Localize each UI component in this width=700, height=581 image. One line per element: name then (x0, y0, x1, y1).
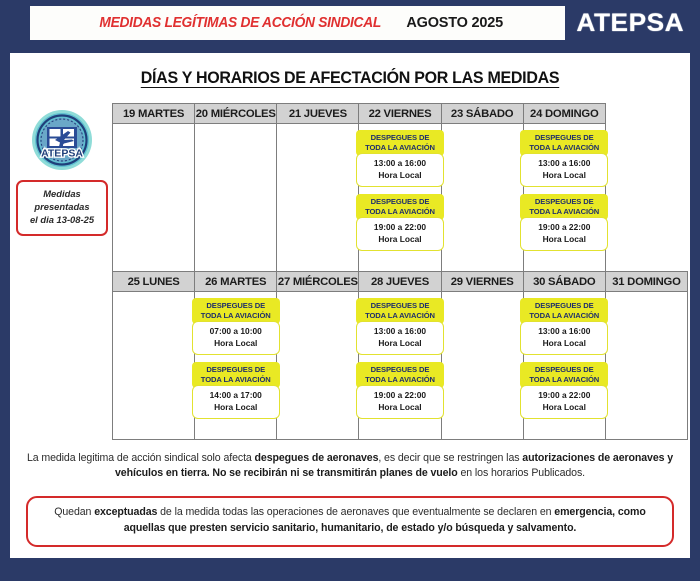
day-header: 23 SÁBADO (441, 104, 523, 124)
calendar-grid: 19 MARTES20 MIÉRCOLES21 JUEVES22 VIERNES… (112, 103, 688, 440)
measure-slot: DESPEGUES DETODA LA AVIACIÓN13:00 a 16:0… (520, 298, 608, 355)
measure-slot-time-range: 19:00 a 22:00 (523, 390, 605, 402)
day-cell-content (113, 124, 194, 134)
day-cell (195, 124, 277, 272)
measure-slot-title-line1: DESPEGUES DE (358, 365, 442, 375)
day-cell-content: DESPEGUES DETODA LA AVIACIÓN07:00 a 10:0… (195, 292, 276, 423)
day-cell (277, 292, 359, 440)
measure-slot-title-line2: TODA LA AVIACIÓN (194, 311, 278, 321)
measure-slot-timezone: Hora Local (523, 338, 605, 350)
measure-slot-title-line2: TODA LA AVIACIÓN (358, 311, 442, 321)
measure-slot: DESPEGUES DETODA LA AVIACIÓN07:00 a 10:0… (192, 298, 280, 355)
measure-slot-timezone: Hora Local (359, 402, 441, 414)
plain-text: , es decir que se restringen las (378, 452, 522, 464)
measure-slot-timezone: Hora Local (359, 170, 441, 182)
day-header: 20 MIÉRCOLES (195, 104, 277, 124)
day-cell-content: DESPEGUES DETODA LA AVIACIÓN13:00 a 16:0… (524, 292, 605, 423)
measure-slot: DESPEGUES DETODA LA AVIACIÓN19:00 a 22:0… (520, 362, 608, 419)
day-cell: DESPEGUES DETODA LA AVIACIÓN13:00 a 16:0… (523, 124, 605, 272)
header-title-plate: MEDIDAS LEGÍTIMAS DE ACCIÓN SINDICAL AGO… (30, 6, 565, 40)
measure-slot-timezone: Hora Local (523, 234, 605, 246)
day-cell (441, 124, 523, 272)
day-cell (605, 292, 687, 440)
header-month: AGOSTO 2025 (406, 15, 503, 31)
poster-root: MEDIDAS LEGÍTIMAS DE ACCIÓN SINDICAL AGO… (0, 0, 700, 581)
calendar-day-row: DESPEGUES DETODA LA AVIACIÓN13:00 a 16:0… (113, 124, 688, 272)
page-title: DÍAS Y HORARIOS DE AFECTACIÓN POR LAS ME… (20, 53, 680, 88)
measure-slot-time-range: 13:00 a 16:00 (523, 158, 605, 170)
day-cell: DESPEGUES DETODA LA AVIACIÓN13:00 a 16:0… (523, 292, 605, 440)
day-header: 22 VIERNES (359, 104, 441, 124)
plain-text: Quedan (54, 506, 94, 518)
measure-slot-title-line2: TODA LA AVIACIÓN (522, 311, 606, 321)
day-header: 27 MIÉRCOLES (277, 272, 359, 292)
emphasis-text: despegues de aeronaves (255, 452, 379, 464)
measure-slot: DESPEGUES DETODA LA AVIACIÓN19:00 a 22:0… (356, 362, 444, 419)
measure-slot-time: 19:00 a 22:00Hora Local (356, 217, 444, 251)
day-header: 19 MARTES (113, 104, 195, 124)
measure-slot-title-line2: TODA LA AVIACIÓN (522, 375, 606, 385)
measure-slot-time-range: 19:00 a 22:00 (359, 390, 441, 402)
measure-slot-title-line1: DESPEGUES DE (358, 133, 442, 143)
measure-slot-time: 14:00 a 17:00Hora Local (192, 385, 280, 419)
measure-slot-time-range: 13:00 a 16:00 (523, 326, 605, 338)
measure-slot-title-line1: DESPEGUES DE (358, 301, 442, 311)
calendar-day-row: DESPEGUES DETODA LA AVIACIÓN07:00 a 10:0… (113, 292, 688, 440)
day-header: 21 JUEVES (277, 104, 359, 124)
plain-text: La medida legitima de acción sindical so… (27, 452, 255, 464)
plain-text: en los horarios Publicados. (458, 467, 585, 479)
day-cell: DESPEGUES DETODA LA AVIACIÓN13:00 a 16:0… (359, 124, 441, 272)
presented-line-3: el dia 13-08-25 (20, 214, 104, 227)
measure-slot-timezone: Hora Local (359, 338, 441, 350)
measure-slot-title-line2: TODA LA AVIACIÓN (358, 143, 442, 153)
measure-slot-timezone: Hora Local (359, 234, 441, 246)
day-cell (441, 292, 523, 440)
day-cell: DESPEGUES DETODA LA AVIACIÓN13:00 a 16:0… (359, 292, 441, 440)
calendar-header-row: 25 LUNES26 MARTES27 MIÉRCOLES28 JUEVES29… (113, 272, 688, 292)
measure-slot: DESPEGUES DETODA LA AVIACIÓN19:00 a 22:0… (520, 194, 608, 251)
presented-line-1: Medidas (20, 188, 104, 201)
exception-note: Quedan exceptuadas de la medida todas la… (26, 496, 674, 547)
day-cell-content: DESPEGUES DETODA LA AVIACIÓN13:00 a 16:0… (359, 124, 440, 255)
day-cell-content (442, 292, 523, 302)
measure-slot-title-line1: DESPEGUES DE (194, 365, 278, 375)
measure-slot-title-line1: DESPEGUES DE (522, 133, 606, 143)
measure-slot-title-line1: DESPEGUES DE (522, 197, 606, 207)
measure-note: La medida legitima de acción sindical so… (26, 451, 674, 482)
measure-slot-title-line2: TODA LA AVIACIÓN (194, 375, 278, 385)
measure-slot: DESPEGUES DETODA LA AVIACIÓN13:00 a 16:0… (520, 130, 608, 187)
measure-slot-title-line1: DESPEGUES DE (194, 301, 278, 311)
measure-slot-time: 13:00 a 16:00Hora Local (356, 153, 444, 187)
day-cell (113, 124, 195, 272)
day-header: 26 MARTES (195, 272, 277, 292)
day-cell-content: DESPEGUES DETODA LA AVIACIÓN13:00 a 16:0… (524, 124, 605, 255)
measure-slot-time: 13:00 a 16:00Hora Local (520, 153, 608, 187)
measure-slot-time-range: 19:00 a 22:00 (523, 222, 605, 234)
measure-slot-time-range: 13:00 a 16:00 (359, 158, 441, 170)
measure-slot: DESPEGUES DETODA LA AVIACIÓN13:00 a 16:0… (356, 298, 444, 355)
measure-slot: DESPEGUES DETODA LA AVIACIÓN13:00 a 16:0… (356, 130, 444, 187)
day-cell-content (442, 124, 523, 134)
measure-slot: DESPEGUES DETODA LA AVIACIÓN19:00 a 22:0… (356, 194, 444, 251)
left-column: ATEPSA Medidas presentadas el dia 13-08-… (12, 103, 112, 271)
measure-slot-title-line1: DESPEGUES DE (358, 197, 442, 207)
measure-slot-time: 19:00 a 22:00Hora Local (356, 385, 444, 419)
measure-slot-time-range: 19:00 a 22:00 (359, 222, 441, 234)
day-cell-content (606, 292, 687, 302)
day-cell: DESPEGUES DETODA LA AVIACIÓN07:00 a 10:0… (195, 292, 277, 440)
day-header: 28 JUEVES (359, 272, 441, 292)
day-cell (113, 292, 195, 440)
measure-slot-title-line1: DESPEGUES DE (522, 365, 606, 375)
measure-slot-time-range: 14:00 a 17:00 (195, 390, 277, 402)
presented-line-2: presentadas (20, 201, 104, 214)
header-title: MEDIDAS LEGÍTIMAS DE ACCIÓN SINDICAL (99, 15, 381, 31)
brand-text: ATEPSA (576, 9, 684, 38)
emphasis-text: exceptuadas (94, 506, 157, 518)
day-cell-content (277, 124, 358, 134)
calendar-header-row: 19 MARTES20 MIÉRCOLES21 JUEVES22 VIERNES… (113, 104, 688, 124)
measure-slot-time: 07:00 a 10:00Hora Local (192, 321, 280, 355)
measure-slot-title-line1: DESPEGUES DE (522, 301, 606, 311)
svg-text:ATEPSA: ATEPSA (41, 148, 83, 160)
measure-slot-time: 19:00 a 22:00Hora Local (520, 385, 608, 419)
measure-slot-title-line2: TODA LA AVIACIÓN (522, 143, 606, 153)
measure-slot-timezone: Hora Local (523, 170, 605, 182)
day-cell-content (277, 292, 358, 302)
day-header: 24 DOMINGO (523, 104, 605, 124)
measure-slot: DESPEGUES DETODA LA AVIACIÓN14:00 a 17:0… (192, 362, 280, 419)
measure-slot-time: 19:00 a 22:00Hora Local (520, 217, 608, 251)
measure-slot-title-line2: TODA LA AVIACIÓN (522, 207, 606, 217)
day-cell (277, 124, 359, 272)
calendar-area: ATEPSA Medidas presentadas el dia 13-08-… (10, 103, 690, 443)
day-cell-content: DESPEGUES DETODA LA AVIACIÓN13:00 a 16:0… (359, 292, 440, 423)
content-panel: DÍAS Y HORARIOS DE AFECTACIÓN POR LAS ME… (10, 53, 690, 558)
header-bar: MEDIDAS LEGÍTIMAS DE ACCIÓN SINDICAL AGO… (0, 0, 700, 47)
measure-slot-timezone: Hora Local (195, 338, 277, 350)
measure-slot-title-line2: TODA LA AVIACIÓN (358, 207, 442, 217)
brand-logo: ATEPSA (570, 6, 690, 40)
plain-text: de la medida todas las operaciones de ae… (157, 506, 554, 518)
day-header: 31 DOMINGO (605, 272, 687, 292)
presented-note: Medidas presentadas el dia 13-08-25 (16, 180, 108, 236)
day-header: 30 SÁBADO (523, 272, 605, 292)
measure-slot-time-range: 07:00 a 10:00 (195, 326, 277, 338)
measure-slot-time-range: 13:00 a 16:00 (359, 326, 441, 338)
day-cell-content (113, 292, 194, 302)
day-cell-content (195, 124, 276, 134)
measure-slot-title-line2: TODA LA AVIACIÓN (358, 375, 442, 385)
atepsa-logo-icon: ATEPSA (31, 109, 93, 171)
measure-slot-timezone: Hora Local (195, 402, 277, 414)
measure-slot-time: 13:00 a 16:00Hora Local (520, 321, 608, 355)
day-header: 25 LUNES (113, 272, 195, 292)
day-header: 29 VIERNES (441, 272, 523, 292)
measure-slot-time: 13:00 a 16:00Hora Local (356, 321, 444, 355)
measure-slot-timezone: Hora Local (523, 402, 605, 414)
